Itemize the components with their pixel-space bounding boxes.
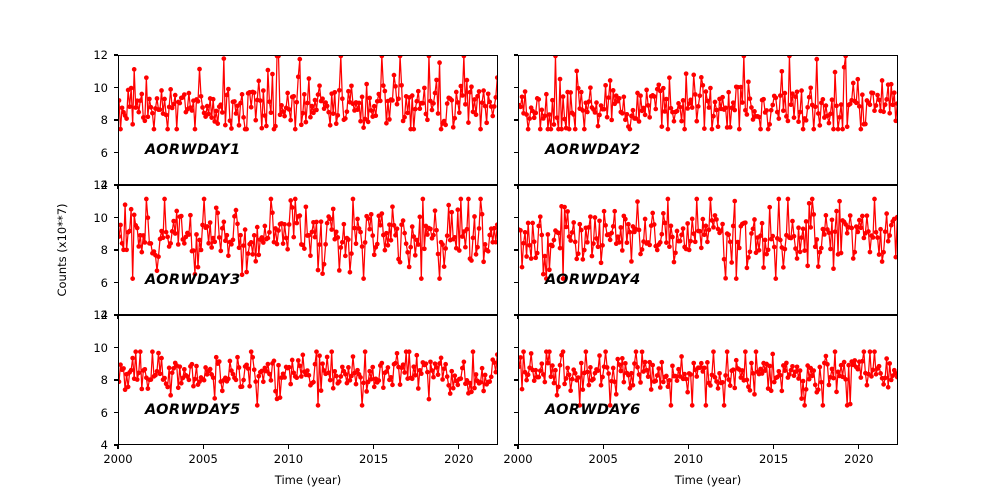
panel-label-aorwday3: AORWDAY3 bbox=[145, 272, 241, 288]
series-plot bbox=[119, 186, 498, 315]
x-tick-label: 2015 bbox=[759, 452, 788, 466]
y-tickmark bbox=[114, 152, 118, 153]
y-tick-label: 12 bbox=[70, 178, 108, 192]
y-tick-label: 10 bbox=[70, 81, 108, 95]
y-tick-label: 4 bbox=[70, 438, 108, 452]
series-plot bbox=[519, 316, 898, 445]
y-tickmark bbox=[514, 152, 518, 153]
y-tickmark bbox=[114, 282, 118, 283]
y-tick-label: 8 bbox=[70, 243, 108, 257]
x-tick-label: 2000 bbox=[103, 452, 132, 466]
panel-label-aorwday1: AORWDAY1 bbox=[145, 142, 241, 158]
y-tickmark bbox=[514, 184, 518, 185]
panel-label-aorwday6: AORWDAY6 bbox=[545, 402, 641, 418]
y-tickmark bbox=[514, 412, 518, 413]
y-tickmark bbox=[114, 379, 118, 380]
x-tickmark bbox=[773, 445, 774, 449]
subplot-aorwday2: AORWDAY2 bbox=[518, 55, 898, 185]
y-tickmark bbox=[114, 184, 118, 185]
y-tick-label: 12 bbox=[70, 48, 108, 62]
x-tick-label: 2000 bbox=[503, 452, 532, 466]
y-tick-label: 8 bbox=[70, 113, 108, 127]
x-tick-label: 2020 bbox=[844, 452, 873, 466]
y-tickmark bbox=[514, 249, 518, 250]
y-tick-label: 6 bbox=[70, 406, 108, 420]
subplot-aorwday3: AORWDAY3 bbox=[118, 185, 498, 315]
panel-label-aorwday4: AORWDAY4 bbox=[545, 272, 641, 288]
x-tick-label: 2010 bbox=[274, 452, 303, 466]
x-tickmark bbox=[858, 445, 859, 449]
subplot-aorwday4: AORWDAY4 bbox=[518, 185, 898, 315]
y-axis-label: Counts (x10**7) bbox=[55, 203, 69, 296]
y-tickmark bbox=[114, 347, 118, 348]
y-tick-label: 6 bbox=[70, 146, 108, 160]
y-tick-label: 12 bbox=[70, 308, 108, 322]
y-tickmark bbox=[514, 347, 518, 348]
y-tickmark bbox=[114, 87, 118, 88]
x-tickmark bbox=[458, 445, 459, 449]
y-tickmark bbox=[114, 54, 118, 55]
x-tickmark bbox=[688, 445, 689, 449]
y-tickmark bbox=[514, 54, 518, 55]
x-axis-label: Time (year) bbox=[275, 473, 341, 487]
x-tick-label: 2020 bbox=[444, 452, 473, 466]
subplot-aorwday1: AORWDAY1 bbox=[118, 55, 498, 185]
x-tick-label: 2005 bbox=[189, 452, 218, 466]
figure-canvas: AORWDAY14681012AORWDAY2AORWDAY34681012AO… bbox=[0, 0, 1000, 500]
y-tickmark bbox=[114, 412, 118, 413]
panel-label-aorwday5: AORWDAY5 bbox=[145, 402, 241, 418]
x-tickmark bbox=[373, 445, 374, 449]
y-tickmark bbox=[514, 282, 518, 283]
x-axis-label: Time (year) bbox=[675, 473, 741, 487]
series-plot bbox=[119, 56, 498, 185]
y-tick-label: 10 bbox=[70, 211, 108, 225]
y-tick-label: 8 bbox=[70, 373, 108, 387]
y-tickmark bbox=[114, 314, 118, 315]
x-tickmark bbox=[517, 445, 518, 449]
subplot-aorwday6: AORWDAY6 bbox=[518, 315, 898, 445]
y-tickmark bbox=[114, 217, 118, 218]
x-tickmark bbox=[117, 445, 118, 449]
panel-label-aorwday2: AORWDAY2 bbox=[545, 142, 641, 158]
y-tick-label: 6 bbox=[70, 276, 108, 290]
x-tick-label: 2010 bbox=[674, 452, 703, 466]
y-tickmark bbox=[114, 249, 118, 250]
y-tick-label: 10 bbox=[70, 341, 108, 355]
y-tickmark bbox=[514, 87, 518, 88]
x-tickmark bbox=[603, 445, 604, 449]
x-tickmark bbox=[203, 445, 204, 449]
y-tickmark bbox=[514, 379, 518, 380]
y-tickmark bbox=[514, 314, 518, 315]
y-tickmark bbox=[514, 119, 518, 120]
series-plot bbox=[119, 316, 498, 445]
x-tickmark bbox=[288, 445, 289, 449]
y-tickmark bbox=[514, 217, 518, 218]
subplot-aorwday5: AORWDAY5 bbox=[118, 315, 498, 445]
series-plot bbox=[519, 186, 898, 315]
x-tick-label: 2015 bbox=[359, 452, 388, 466]
series-plot bbox=[519, 56, 898, 185]
y-tickmark bbox=[114, 119, 118, 120]
x-tick-label: 2005 bbox=[589, 452, 618, 466]
